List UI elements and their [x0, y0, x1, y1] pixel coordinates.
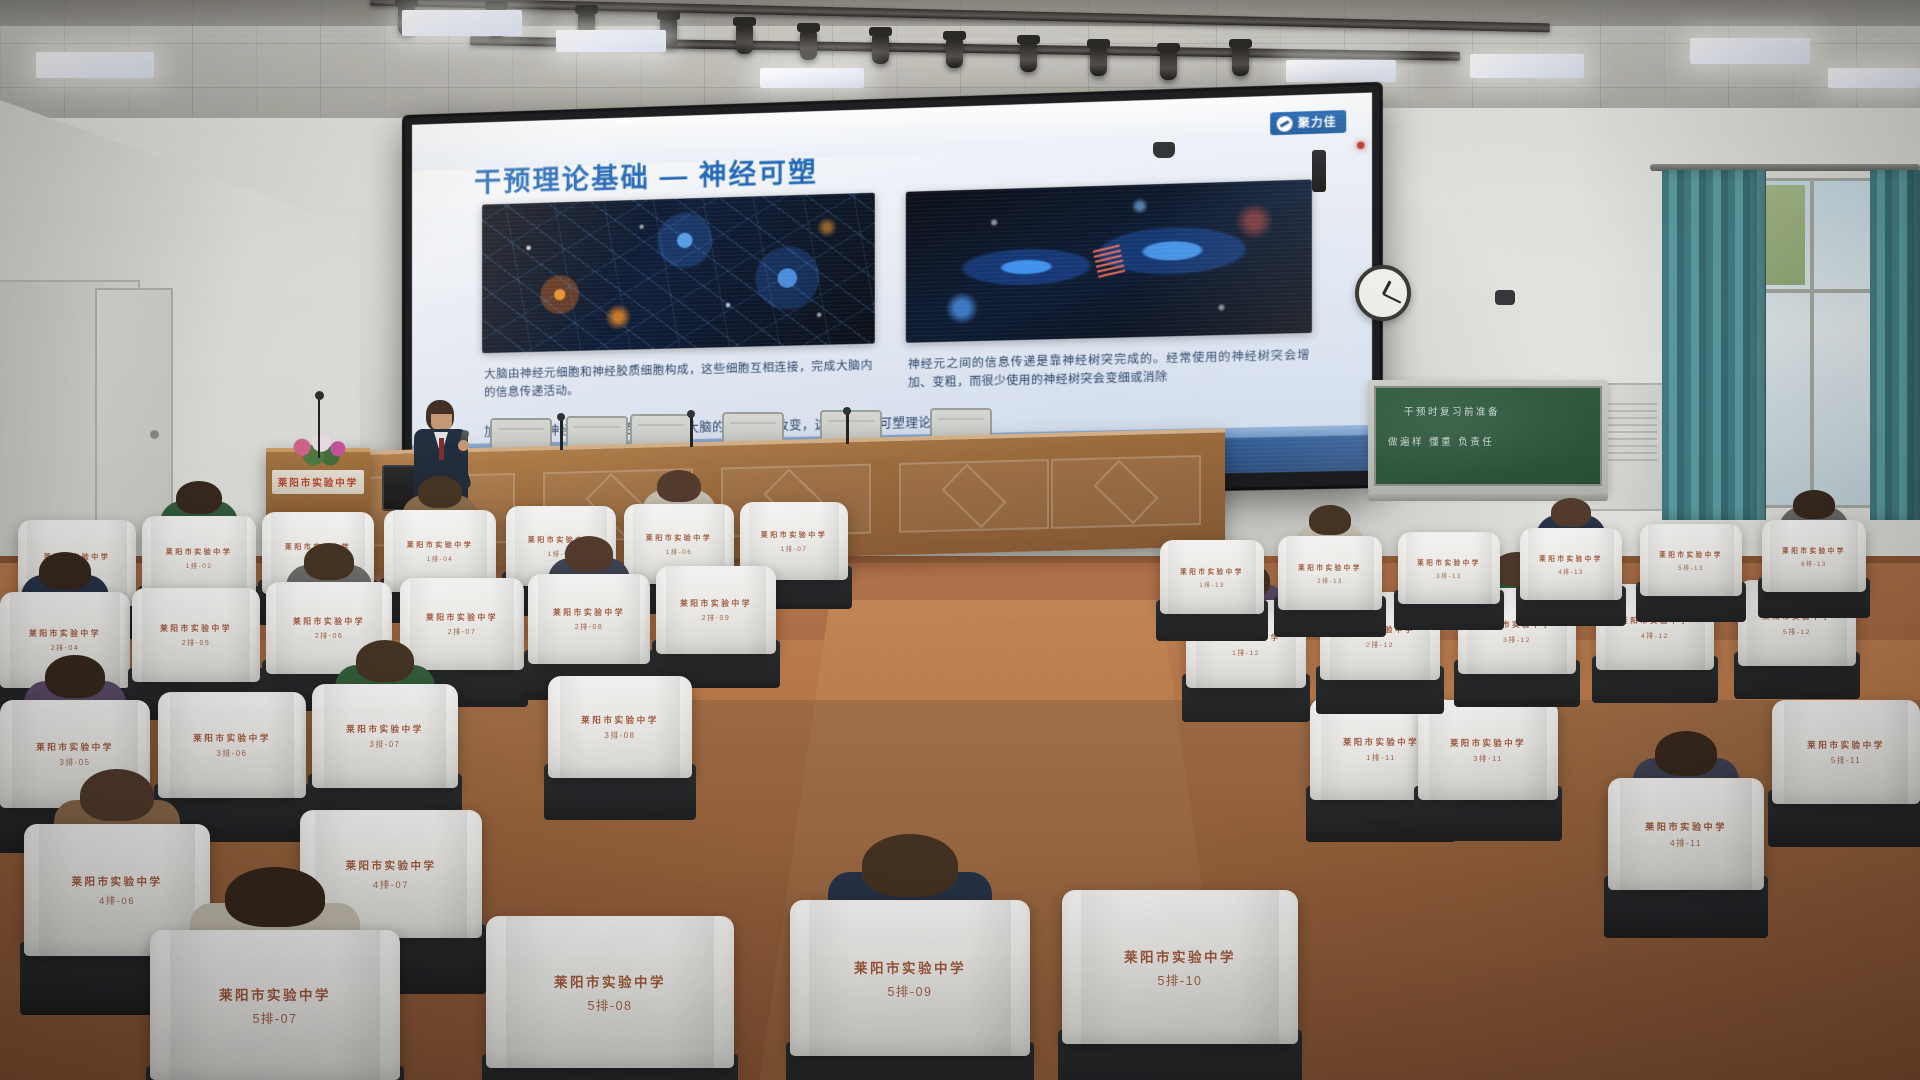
seat-number-label: 5排-07 [252, 1008, 297, 1027]
chalkboard-line-1: 干预时复习前准备 [1404, 404, 1500, 418]
seat-school-label: 莱阳市实验中学 [1124, 946, 1236, 966]
logo-text: 聚力佳 [1298, 113, 1337, 131]
seat-school-label: 莱阳市实验中学 [1782, 545, 1846, 555]
presentation-logo: 聚力佳 [1270, 110, 1346, 135]
audience-member-head [1793, 490, 1835, 519]
seat-number-label: 1排-12 [1232, 647, 1260, 657]
audience-member-head [39, 552, 91, 590]
seat-school-label: 莱阳市实验中学 [29, 628, 101, 639]
seat-number-label: 5排-11 [1831, 755, 1861, 766]
seat-number-label: 1排-07 [781, 544, 808, 553]
seat-school-label: 莱阳市实验中学 [346, 723, 424, 735]
audience-seat[interactable]: 莱阳市实验中学5排-10 [1062, 890, 1298, 1044]
seat-number-label: 2排-12 [1366, 639, 1394, 649]
seat-number-label: 2排-07 [448, 627, 477, 637]
seat-number-label: 3排-06 [217, 748, 248, 759]
audience-member-head [1655, 731, 1717, 776]
spotlight-fixture [872, 34, 889, 64]
spotlight-fixture [1090, 46, 1107, 76]
seat-number-label: 3排-12 [1503, 634, 1531, 644]
wall-speaker [1312, 150, 1326, 192]
audience-member-head [862, 834, 958, 896]
curtain-left[interactable] [1662, 170, 1766, 520]
seat-number-label: 2排-05 [182, 638, 211, 648]
logo-mark-icon [1277, 115, 1293, 131]
window-mullion-vertical [1810, 181, 1814, 505]
spotlight-fixture [1232, 46, 1249, 76]
audience-seat[interactable]: 莱阳市实验中学1排-13 [1160, 540, 1264, 614]
seat-school-label: 莱阳市实验中学 [1807, 739, 1885, 751]
seat-school-label: 莱阳市实验中学 [1450, 737, 1526, 749]
audience-member-head [1551, 498, 1592, 527]
neuron-network-image [482, 193, 875, 353]
seat-school-label: 莱阳市实验中学 [680, 598, 752, 609]
seat-school-label: 莱阳市实验中学 [581, 714, 659, 726]
seat-school-label: 莱阳市实验中学 [1539, 553, 1603, 563]
seat-school-label: 莱阳市实验中学 [1659, 549, 1723, 559]
table-panel [899, 459, 1049, 533]
audience-seat[interactable]: 莱阳市实验中学2排-13 [1278, 536, 1382, 610]
seat-school-label: 莱阳市实验中学 [1298, 562, 1362, 572]
spotlight-fixture [1020, 42, 1037, 72]
audience-member-head [304, 543, 354, 580]
seat-school-label: 莱阳市实验中学 [854, 957, 966, 977]
seat-school-label: 莱阳市实验中学 [293, 616, 365, 627]
spotlight-fixture [736, 24, 753, 54]
audience-member-head [418, 476, 463, 509]
caption-left: 大脑由神经元细胞和神经胶质细胞构成，这些细胞互相连接，完成大脑内的信息传递活动。 [484, 358, 873, 403]
seat-number-label: 3排-05 [60, 757, 91, 768]
ceiling-panel-light [1690, 38, 1810, 64]
seat-school-label: 莱阳市实验中学 [193, 732, 271, 744]
seat-number-label: 1排-06 [666, 547, 693, 556]
seat-number-label: 5排-10 [1157, 970, 1202, 989]
audience-seat[interactable]: 莱阳市实验中学5排-08 [486, 916, 734, 1068]
audience-seat[interactable]: 莱阳市实验中学2排-07 [400, 578, 524, 670]
seat-school-label: 莱阳市实验中学 [36, 741, 114, 753]
seat-school-label: 莱阳市实验中学 [160, 623, 232, 634]
audience-seat[interactable]: 莱阳市实验中学2排-09 [656, 566, 776, 654]
seat-number-label: 4排-11 [1670, 837, 1702, 849]
audience-seat[interactable]: 莱阳市实验中学2排-08 [528, 574, 650, 664]
seat-number-label: 5排-13 [1678, 563, 1704, 572]
seat-number-label: 2排-13 [1317, 576, 1343, 585]
audience-member-head [565, 536, 614, 572]
seat-school-label: 莱阳市实验中学 [72, 874, 163, 889]
chalkboard-surface: 干预时复习前准备 做遍样 懂重 负责任 [1374, 386, 1602, 486]
seat-number-label: 1排-04 [427, 554, 454, 563]
seat-school-label: 莱阳市实验中学 [407, 540, 474, 550]
table-panel [1051, 455, 1201, 529]
podium-sign: 莱阳市实验中学 [272, 470, 364, 494]
audience-seat[interactable]: 莱阳市实验中学4排-11 [1608, 778, 1764, 890]
seat-number-label: 1排-13 [1199, 580, 1225, 589]
spotlight-fixture [1160, 50, 1177, 80]
ceiling-camera-icon [1153, 142, 1175, 158]
seat-number-label: 3排-11 [1473, 753, 1503, 764]
seat-school-label: 莱阳市实验中学 [554, 971, 666, 991]
audience-seat[interactable]: 莱阳市实验中学5排-13 [1640, 524, 1742, 596]
ceiling-panel-light [36, 52, 154, 78]
seat-school-label: 莱阳市实验中学 [646, 533, 713, 543]
seat-number-label: 3排-07 [370, 739, 401, 750]
audience-member-head [1309, 505, 1351, 535]
panel-diamond-icon [941, 464, 1006, 529]
seat-number-label: 5排-09 [887, 981, 932, 1000]
table-microphone [846, 412, 849, 444]
seat-number-label: 4排-07 [373, 877, 409, 891]
audience-seat[interactable]: 莱阳市实验中学3排-06 [158, 692, 306, 798]
slide-image-row [482, 179, 1312, 353]
seat-number-label: 4排-13 [1558, 567, 1584, 576]
seat-school-label: 莱阳市实验中学 [219, 984, 331, 1004]
audience-member-head [657, 470, 701, 502]
seat-number-label: 1排-11 [1366, 752, 1396, 763]
wall-clock [1355, 265, 1411, 321]
synapse-image [906, 179, 1312, 342]
microphone-stand [318, 398, 320, 458]
audience-seat[interactable]: 莱阳市实验中学3排-11 [1418, 700, 1558, 800]
seat-school-label: 莱阳市实验中学 [166, 547, 233, 557]
audience-seat[interactable]: 莱阳市实验中学6排-13 [1762, 520, 1866, 592]
curtain-right[interactable] [1870, 170, 1920, 520]
seat-school-label: 莱阳市实验中学 [761, 530, 828, 540]
spotlight-fixture [800, 30, 817, 60]
flower-arrangement [288, 430, 352, 466]
seat-number-label: 2排-08 [575, 622, 604, 632]
audience-seat[interactable]: 莱阳市实验中学2排-05 [132, 588, 260, 682]
seat-number-label: 5排-08 [587, 995, 632, 1014]
slide-caption-row: 大脑由神经元细胞和神经胶质细胞构成，这些细胞互相连接，完成大脑内的信息传递活动。… [484, 347, 1310, 402]
seat-school-label: 莱阳市实验中学 [1180, 566, 1244, 576]
presenter-tie [439, 438, 444, 460]
audience-member-head [356, 640, 414, 682]
ceiling-panel-light [402, 10, 522, 36]
table-microphone [690, 415, 693, 447]
caption-right: 神经元之间的信息传递是靠神经树突完成的。经常使用的神经树突会增加、变粗，而很少使… [908, 347, 1310, 393]
door-knob-icon[interactable] [150, 430, 159, 439]
seat-number-label: 5排-12 [1783, 626, 1811, 636]
audience-member-head [225, 867, 325, 927]
audience-member-head [45, 655, 105, 698]
seat-number-label: 1排-02 [186, 561, 213, 570]
audience-seat[interactable]: 莱阳市实验中学3排-08 [548, 676, 692, 778]
audience-seat[interactable]: 莱阳市实验中学5排-07 [150, 930, 400, 1080]
spotlight-fixture [946, 38, 963, 68]
audience-seat[interactable]: 莱阳市实验中学4排-13 [1520, 528, 1622, 600]
seat-school-label: 莱阳市实验中学 [1645, 819, 1727, 833]
audience-seat[interactable]: 莱阳市实验中学5排-09 [790, 900, 1030, 1056]
audience-member-head [80, 769, 154, 822]
seat-number-label: 3排-08 [605, 730, 636, 741]
seat-number-label: 3排-13 [1436, 571, 1462, 580]
chalkboard-line-2: 做遍样 懂重 负责任 [1388, 434, 1494, 448]
ceiling-panel-light [556, 30, 666, 52]
seat-school-label: 莱阳市实验中学 [1417, 557, 1481, 567]
audience-seat[interactable]: 莱阳市实验中学3排-13 [1398, 532, 1500, 604]
seat-number-label: 4排-06 [99, 893, 135, 907]
presenter-hand [458, 440, 469, 451]
audience-member-head [176, 481, 222, 515]
seat-school-label: 莱阳市实验中学 [426, 612, 498, 623]
seat-school-label: 莱阳市实验中学 [346, 858, 437, 873]
ceiling-panel-light [1286, 60, 1396, 82]
ceiling-panel-light [1470, 54, 1584, 78]
seat-number-label: 2排-09 [702, 613, 731, 623]
seat-number-label: 2排-06 [315, 631, 344, 641]
audience-seat[interactable]: 莱阳市实验中学5排-11 [1772, 700, 1920, 804]
ceiling-panel-light [760, 68, 864, 88]
seat-number-label: 2排-04 [51, 643, 80, 653]
wall-camera-icon [1495, 290, 1515, 305]
table-microphone [560, 418, 563, 450]
chalkboard: 干预时复习前准备 做遍样 懂重 负责任 [1368, 380, 1608, 492]
panel-diamond-icon [1093, 460, 1158, 525]
audience-seat[interactable]: 莱阳市实验中学3排-07 [312, 684, 458, 788]
seat-school-label: 莱阳市实验中学 [553, 607, 625, 618]
seat-number-label: 6排-13 [1801, 559, 1827, 568]
seat-school-label: 莱阳市实验中学 [1343, 736, 1419, 748]
slide-surface: 干预理论基础 — 神经可塑 聚力佳 大脑由神经元细胞和神经胶质细胞构成，这些细胞… [412, 93, 1372, 489]
seat-number-label: 4排-12 [1641, 630, 1669, 640]
ceiling-panel-light [1828, 68, 1920, 88]
lecture-hall-photo: 干预理论基础 — 神经可塑 聚力佳 大脑由神经元细胞和神经胶质细胞构成，这些细胞… [0, 0, 1920, 1080]
